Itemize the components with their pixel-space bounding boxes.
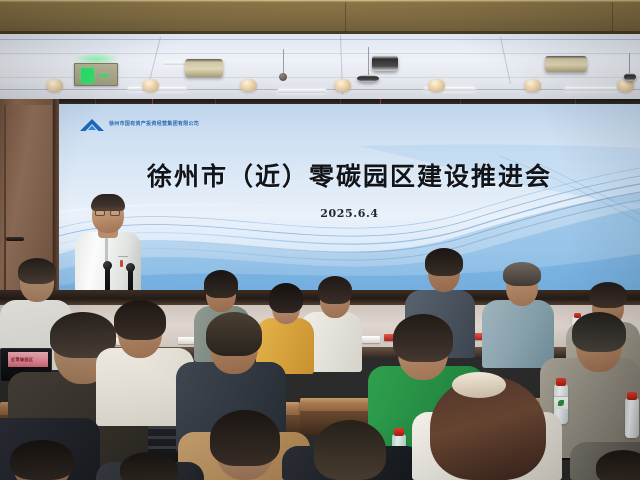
ceiling-speaker [624,73,636,81]
glasses-icon [95,210,121,216]
ceiling-speaker [185,59,223,77]
company-logo-icon [79,118,105,132]
microphone-head [126,263,135,272]
ceiling-light-fixture [565,87,617,91]
led-presentation-screen: 徐州市国有资产投资经营集团有限公司 徐州市（近）零碳园区建设推进会 2025.6… [59,104,640,291]
smoke-detector-icon [279,73,287,81]
water-bottle[interactable] [625,398,639,438]
door-handle[interactable] [6,237,24,241]
microphone-head [103,261,112,270]
ceiling-speaker [357,75,379,82]
ceiling-light-fixture [278,89,326,93]
recessed-downlight [334,79,351,92]
hair-scrunchie [452,372,506,398]
ceiling-speaker [372,55,398,71]
place-card: 近零碳园区 [8,352,48,367]
leaf-logo-icon [558,400,564,406]
bottle-cap [556,378,566,386]
recessed-downlight [142,79,159,92]
recessed-downlight [617,79,634,92]
ceiling-beam [0,0,640,34]
screen-wave-graphic [59,104,640,291]
exit-arrow-icon: → [99,72,113,79]
conference-photo-scene: → [0,0,640,480]
bottle-cap [394,428,404,436]
running-man-exit-icon [81,68,94,83]
exit-sign: → [74,63,118,86]
presenter-badge [120,260,123,267]
screen-date: 2025.6.4 [59,207,640,220]
place-card-text: 近零碳园区 [11,357,34,363]
screen-title: 徐州市（近）零碳园区建设推进会 [59,157,640,193]
ceiling-speaker [545,56,587,72]
recessed-downlight [240,79,257,92]
recessed-downlight [428,79,445,92]
company-logo-text: 徐州市国有资产投资经营集团有限公司 [109,120,199,127]
bottle-cap [627,392,637,400]
recessed-downlight [46,79,63,92]
recessed-downlight [524,79,541,92]
